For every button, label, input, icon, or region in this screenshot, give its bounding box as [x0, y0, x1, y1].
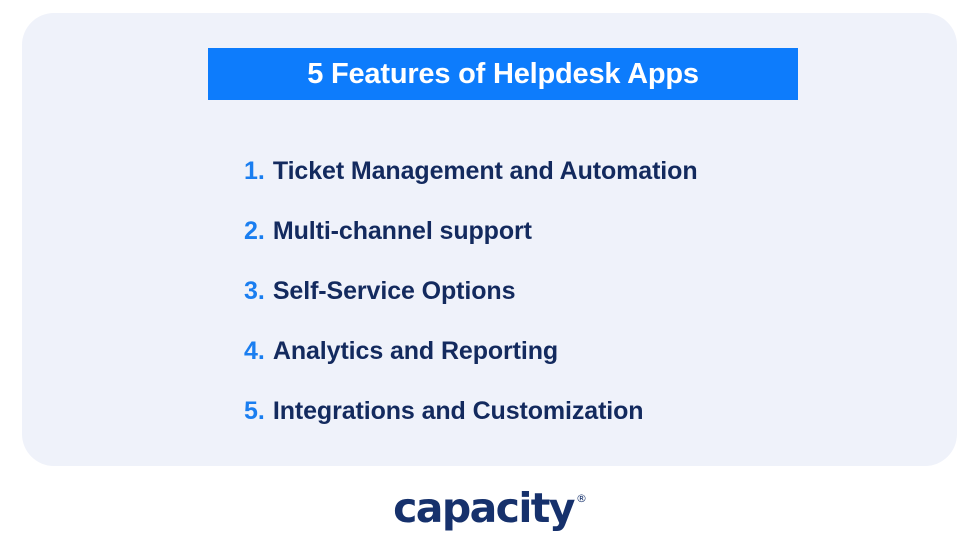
list-item-label: Analytics and Reporting: [273, 339, 558, 364]
list-item-number: 1.: [244, 159, 265, 184]
capacity-logo-wordmark: capacity: [393, 488, 574, 529]
capacity-logo: capacity ®: [393, 488, 587, 529]
list-item-label: Integrations and Customization: [273, 399, 644, 424]
list-item-number: 4.: [244, 339, 265, 364]
feature-list: 1. Ticket Management and Automation 2. M…: [244, 141, 934, 441]
list-item: 4. Analytics and Reporting: [244, 321, 934, 381]
list-item: 3. Self-Service Options: [244, 261, 934, 321]
list-item-number: 5.: [244, 399, 265, 424]
title-banner: 5 Features of Helpdesk Apps: [208, 48, 798, 100]
list-item-label: Self-Service Options: [273, 279, 516, 304]
list-item: 2. Multi-channel support: [244, 201, 934, 261]
page-title: 5 Features of Helpdesk Apps: [307, 60, 699, 89]
list-item: 1. Ticket Management and Automation: [244, 141, 934, 201]
footer-logo: capacity ®: [0, 482, 980, 534]
infographic-root: 5 Features of Helpdesk Apps 1. Ticket Ma…: [0, 0, 980, 551]
list-item-label: Multi-channel support: [273, 219, 532, 244]
registered-trademark-icon: ®: [576, 493, 587, 504]
content-card: 5 Features of Helpdesk Apps 1. Ticket Ma…: [22, 13, 957, 466]
list-item-number: 2.: [244, 219, 265, 244]
list-item-label: Ticket Management and Automation: [273, 159, 698, 184]
list-item: 5. Integrations and Customization: [244, 381, 934, 441]
list-item-number: 3.: [244, 279, 265, 304]
